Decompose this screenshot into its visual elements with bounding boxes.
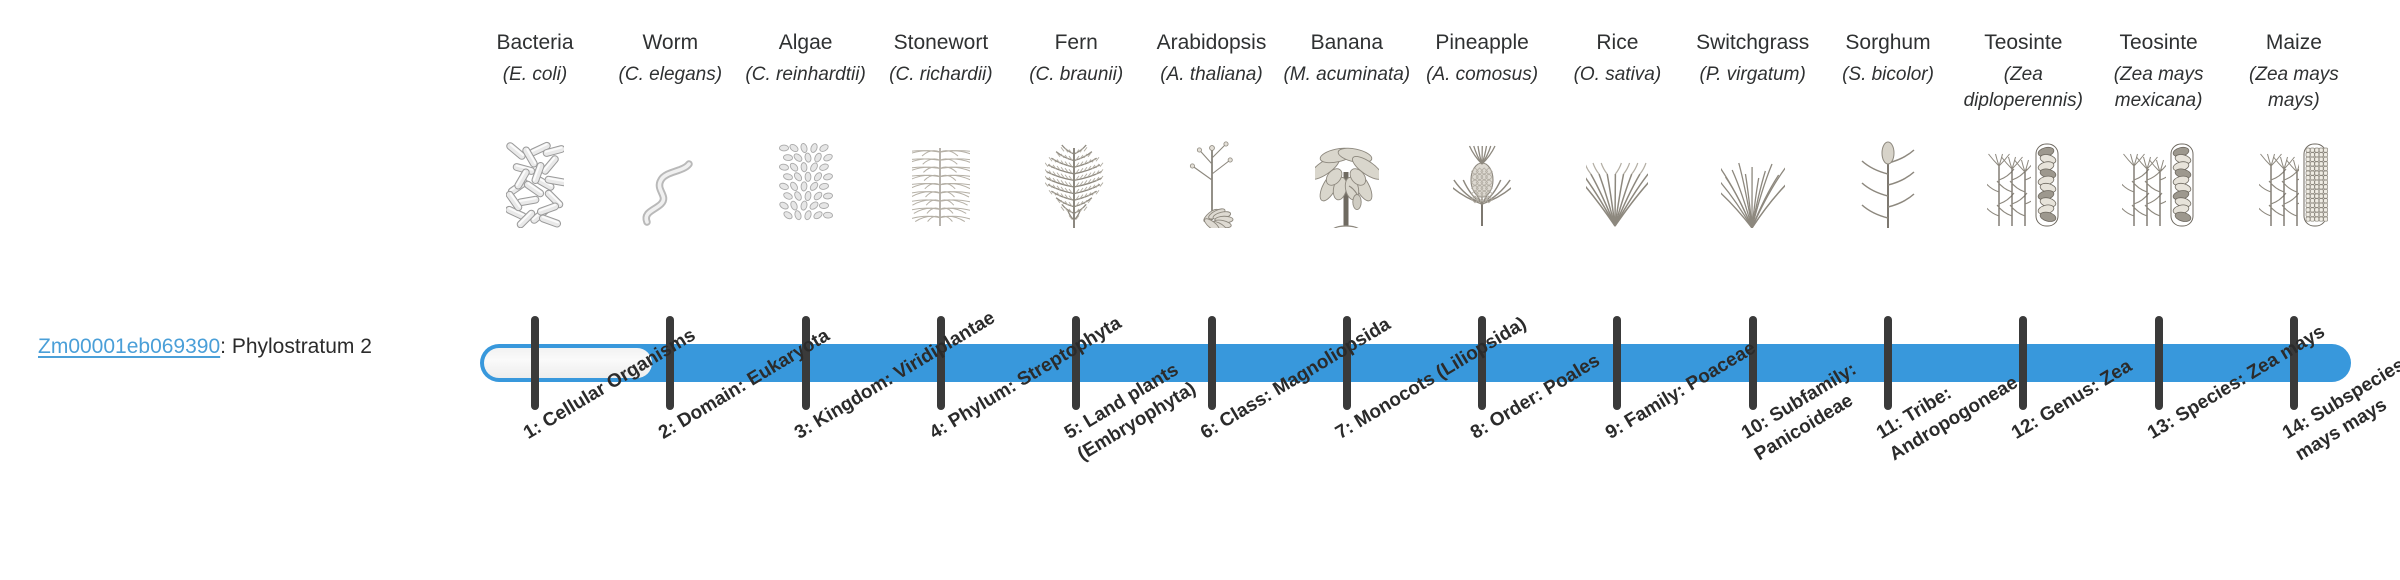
species-header-row: Bacteria(E. coli) bbox=[470, 28, 2400, 168]
species-latin-name: (Zea diploperennis) bbox=[1959, 62, 2087, 114]
species-common-name: Maize bbox=[2230, 28, 2358, 58]
species-column: Banana(M. acuminata) bbox=[1283, 28, 1411, 88]
stratum-number: 12: bbox=[2008, 412, 2042, 444]
bacteria-icon bbox=[471, 140, 599, 228]
stratum-number: 4: bbox=[926, 417, 951, 444]
species-column: Sorghum(S. bicolor) bbox=[1824, 28, 1952, 88]
stratum-number: 2: bbox=[655, 417, 680, 444]
species-common-name: Rice bbox=[1553, 28, 1681, 58]
species-column: Fern(C. braunii) bbox=[1012, 28, 1140, 88]
species-column: Bacteria(E. coli) bbox=[471, 28, 599, 88]
timeline-plot: Bacteria(E. coli) bbox=[470, 0, 2400, 580]
teosinte-diploperennis-icon bbox=[1959, 140, 2087, 228]
species-common-name: Sorghum bbox=[1824, 28, 1952, 58]
sorghum-icon bbox=[1824, 140, 1952, 228]
species-latin-name: (C. richardii) bbox=[877, 62, 1005, 88]
stratum-number: 13: bbox=[2144, 412, 2178, 444]
gene-label-separator: : bbox=[220, 335, 232, 358]
species-common-name: Fern bbox=[1012, 28, 1140, 58]
gene-id-link[interactable]: Zm00001eb069390 bbox=[38, 335, 220, 358]
phylostratum-value: Phylostratum 2 bbox=[232, 335, 372, 358]
teosinte-mexicana-icon bbox=[2095, 140, 2223, 228]
species-common-name: Teosinte bbox=[1959, 28, 2087, 58]
stratum-number: 5: bbox=[1061, 417, 1086, 444]
species-latin-name: (A. thaliana) bbox=[1148, 62, 1276, 88]
species-column: Arabidopsis(A. thaliana) bbox=[1148, 28, 1276, 88]
species-common-name: Pineapple bbox=[1418, 28, 1546, 58]
species-column: Rice(O. sativa) bbox=[1553, 28, 1681, 88]
stratum-number: 8: bbox=[1467, 417, 1492, 444]
species-latin-name: (Zea mays mays) bbox=[2230, 62, 2358, 114]
species-column: Pineapple(A. comosus) bbox=[1418, 28, 1546, 88]
species-latin-name: (C. braunii) bbox=[1012, 62, 1140, 88]
species-latin-name: (E. coli) bbox=[471, 62, 599, 88]
rice-icon bbox=[1553, 140, 1681, 228]
species-common-name: Teosinte bbox=[2095, 28, 2223, 58]
species-latin-name: (A. comosus) bbox=[1418, 62, 1546, 88]
species-common-name: Switchgrass bbox=[1689, 28, 1817, 58]
species-latin-name: (P. virgatum) bbox=[1689, 62, 1817, 88]
species-column: Maize(Zea mays mays) bbox=[2230, 28, 2358, 114]
stratum-number: 3: bbox=[791, 417, 816, 444]
species-latin-name: (S. bicolor) bbox=[1824, 62, 1952, 88]
stratum-number: 6: bbox=[1197, 417, 1222, 444]
algae-icon bbox=[742, 140, 870, 228]
pineapple-icon bbox=[1418, 140, 1546, 228]
worm-icon bbox=[606, 140, 734, 228]
species-common-name: Bacteria bbox=[471, 28, 599, 58]
species-latin-name: (C. elegans) bbox=[606, 62, 734, 88]
stratum-number: 1: bbox=[520, 417, 545, 444]
maize-icon bbox=[2230, 140, 2358, 228]
arabidopsis-icon bbox=[1148, 140, 1276, 228]
switchgrass-icon bbox=[1689, 140, 1817, 228]
species-column: Switchgrass(P. virgatum) bbox=[1689, 28, 1817, 88]
species-common-name: Arabidopsis bbox=[1148, 28, 1276, 58]
stratum-text: Tribe: Andropogoneae bbox=[1886, 372, 2022, 465]
species-latin-name: (O. sativa) bbox=[1553, 62, 1681, 88]
species-common-name: Banana bbox=[1283, 28, 1411, 58]
gene-phylostratum-label: Zm00001eb069390: Phylostratum 2 bbox=[38, 333, 372, 361]
species-latin-name: (C. reinhardtii) bbox=[742, 62, 870, 88]
species-latin-name: (M. acuminata) bbox=[1283, 62, 1411, 88]
species-column: Worm(C. elegans) bbox=[606, 28, 734, 88]
species-column: Teosinte(Zea mays mexicana) bbox=[2095, 28, 2223, 114]
stratum-tick[interactable] bbox=[531, 316, 539, 410]
species-column: Stonewort(C. richardii) bbox=[877, 28, 1005, 88]
species-column: Algae(C. reinhardtii) bbox=[742, 28, 870, 88]
species-common-name: Algae bbox=[742, 28, 870, 58]
stonewort-icon bbox=[877, 140, 1005, 228]
stratum-number: 7: bbox=[1332, 417, 1357, 444]
species-common-name: Stonewort bbox=[877, 28, 1005, 58]
species-common-name: Worm bbox=[606, 28, 734, 58]
banana-icon bbox=[1283, 140, 1411, 228]
species-column: Teosinte(Zea diploperennis) bbox=[1959, 28, 2087, 114]
phylostratum-figure: Zm00001eb069390: Phylostratum 2 Bacteria… bbox=[0, 0, 2400, 580]
species-latin-name: (Zea mays mexicana) bbox=[2095, 62, 2223, 114]
fern-icon bbox=[1012, 140, 1140, 228]
